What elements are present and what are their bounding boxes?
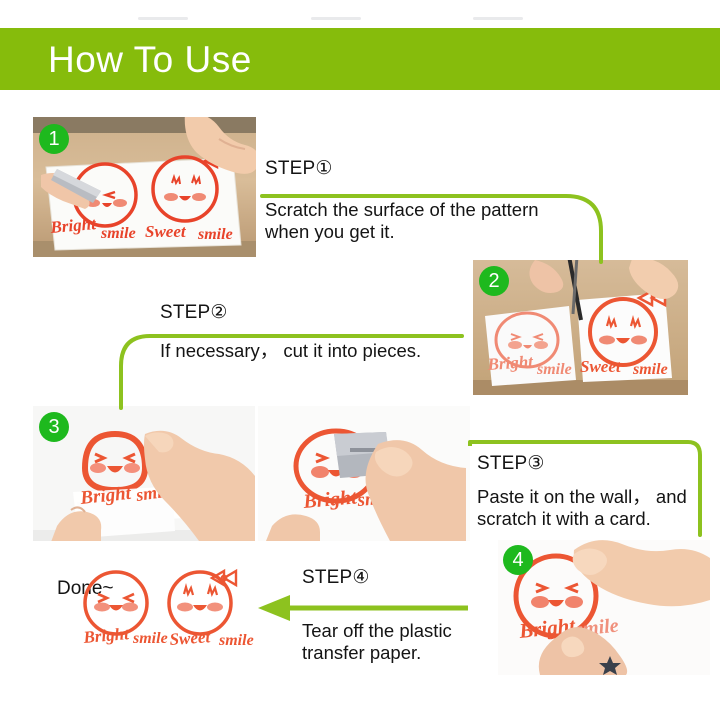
svg-text:Sweet: Sweet (169, 627, 212, 649)
top-dash-1 (138, 17, 188, 20)
step-1-label: STEP① (265, 157, 333, 180)
done-label: Done~ (57, 578, 114, 600)
badge-2: 2 (479, 266, 509, 296)
page-title: How To Use (48, 40, 252, 80)
step-3-body: Paste it on the wall， and scratch it wit… (477, 486, 712, 530)
svg-text:Sweet: Sweet (145, 222, 187, 241)
svg-text:smile: smile (132, 630, 168, 647)
step-1-body: Scratch the surface of the pattern when … (265, 199, 565, 243)
arrow-left-icon (258, 595, 290, 621)
top-dash-2 (311, 17, 361, 20)
bow-icon (212, 571, 236, 585)
badge-1: 1 (39, 124, 69, 154)
svg-text:Bright: Bright (82, 624, 131, 647)
top-dash-3 (473, 17, 523, 20)
svg-text:smile: smile (100, 225, 136, 242)
sweet-smile-decal: Sweet smile (169, 571, 254, 649)
photo-step-3-card: Bright smile (258, 406, 470, 541)
badge-4: 4 (503, 545, 533, 575)
step-3-label: STEP③ (477, 452, 545, 475)
svg-text:Bright: Bright (486, 352, 535, 374)
step-2-body: If necessary， cut it into pieces. (160, 340, 490, 362)
photo-step-2: Bright smile Sweet smile 2 (473, 260, 688, 395)
svg-text:smile: smile (197, 226, 233, 243)
photo-step-1: Bright smile Sweet smile 1 (33, 117, 256, 257)
svg-text:smile: smile (632, 361, 668, 378)
step-4-body: Tear off the plastic transfer paper. (302, 620, 482, 664)
how-to-use-infographic: How To Use (0, 0, 720, 720)
svg-text:smile: smile (218, 632, 254, 649)
step-2-label: STEP② (160, 301, 228, 324)
photo-step-4: Bright smile 4 (498, 540, 710, 675)
photo-step-3: Bright smile 3 (33, 406, 255, 541)
svg-text:Sweet: Sweet (580, 357, 622, 376)
svg-text:smile: smile (536, 361, 572, 378)
badge-3: 3 (39, 412, 69, 442)
step-4-label: STEP④ (302, 566, 370, 589)
